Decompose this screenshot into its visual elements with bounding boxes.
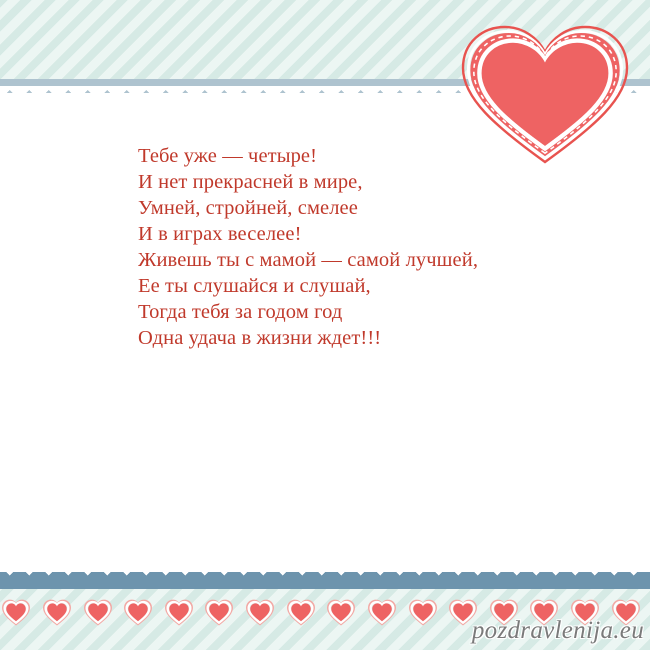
poem-text-block: Тебе уже — четыре! И нет прекрасней в ми…	[138, 143, 568, 351]
poem-line: Одна удача в жизни ждет!!!	[138, 325, 568, 351]
poem-line: Тогда тебя за годом год	[138, 299, 568, 325]
poem-line: Живешь ты с мамой — самой лучшей,	[138, 247, 568, 273]
mini-heart	[123, 598, 153, 626]
watermark-text: pozdravlenija.eu	[472, 617, 644, 645]
poem-line: Тебе уже — четыре!	[138, 143, 568, 169]
mini-heart	[286, 598, 316, 626]
mini-heart	[1, 598, 31, 626]
mini-heart	[204, 598, 234, 626]
poem-line: И нет прекрасней в мире,	[138, 169, 568, 195]
bottom-zigzag-edge	[0, 572, 650, 579]
mini-heart	[164, 598, 194, 626]
mini-heart	[367, 598, 397, 626]
mini-heart	[42, 598, 72, 626]
mini-heart	[83, 598, 113, 626]
greeting-card: Тебе уже — четыре! И нет прекрасней в ми…	[0, 0, 650, 650]
poem-line: Умней, стройней, смелее	[138, 195, 568, 221]
poem-line: И в играх веселее!	[138, 221, 568, 247]
mini-heart	[326, 598, 356, 626]
poem-line: Ее ты слушайся и слушай,	[138, 273, 568, 299]
mini-heart	[408, 598, 438, 626]
mini-heart	[245, 598, 275, 626]
